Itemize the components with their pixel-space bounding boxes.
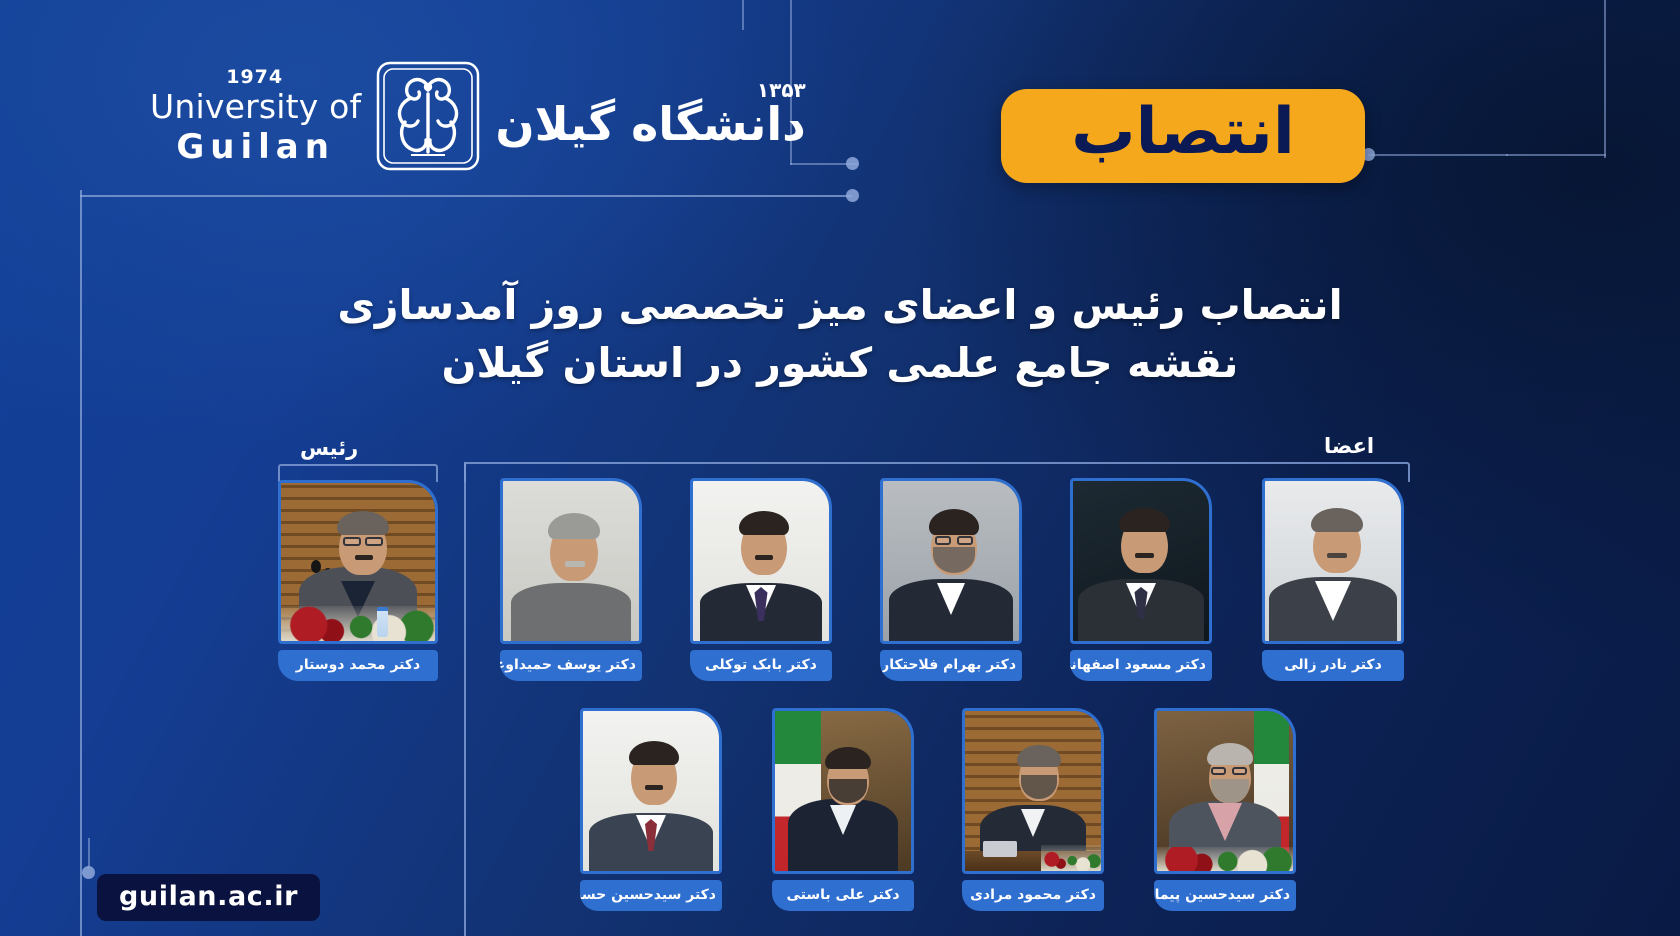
deco-line-right-horizontal: [1368, 154, 1508, 156]
chair-name-tag: دکتر محمد دوستار: [278, 650, 438, 681]
member-8-photo: [962, 708, 1104, 874]
person-card-member-5[interactable]: دکتر نادر زالی: [1262, 478, 1404, 681]
member-1-name-tag: دکتر یوسف حمیداوغلی: [500, 650, 642, 681]
page-title: انتصاب رئیس و اعضای میز تخصصی روز آمدساز…: [0, 276, 1680, 392]
member-3-name-tag: دکتر بهرام فلاحتکار: [880, 650, 1022, 681]
portrait-artwork: [775, 711, 911, 871]
portrait-artwork: [883, 481, 1019, 641]
logo-english-text: 1974 University of Guilan: [150, 68, 361, 164]
deco-line-right-horizontal-2: [1506, 154, 1606, 156]
members-section-stem: [464, 462, 466, 936]
eyeglasses-icon: [343, 537, 361, 546]
member-5-name-tag: دکتر نادر زالی: [1262, 650, 1404, 681]
portrait-artwork: [1157, 711, 1293, 871]
deco-line-left-horizontal: [80, 195, 852, 197]
guilan-emblem-icon: [375, 60, 481, 172]
portrait-artwork: [1073, 481, 1209, 641]
members-section-label: اعضا: [1324, 434, 1374, 458]
deco-line-right-vertical: [1604, 0, 1606, 158]
chair-photo: [278, 480, 438, 644]
logo-persian-text: ۱۳۵۳ دانشگاه گیلان: [495, 78, 805, 154]
logo-university-name-fa: دانشگاه گیلان: [495, 96, 805, 154]
member-6-name-tag: دکتر سیدحسین حسینی مقدم: [580, 880, 722, 911]
deco-dot-footer: [82, 866, 95, 879]
portrait-artwork: [281, 483, 435, 641]
member-4-name-tag: دکتر مسعود اصفهانی: [1070, 650, 1212, 681]
eyeglasses-icon-2: [365, 537, 383, 546]
member-2-name-tag: دکتر بابک توکلی: [690, 650, 832, 681]
person-card-member-2[interactable]: دکتر بابک توکلی: [690, 478, 832, 681]
person-card-member-4[interactable]: دکتر مسعود اصفهانی: [1070, 478, 1212, 681]
member-1-photo: [500, 478, 642, 644]
member-7-name-tag: دکتر علی باستی: [772, 880, 914, 911]
person-card-chair[interactable]: دکتر محمد دوستار: [278, 480, 438, 681]
logo-founding-year-en: 1974: [150, 68, 359, 87]
member-9-photo: [1154, 708, 1296, 874]
member-8-name-tag: دکتر محمود مرادی: [962, 880, 1104, 911]
appointment-badge-label: انتصاب: [1071, 100, 1295, 164]
university-logo: 1974 University of Guilan ۱۳۵۳ دانشگاه گ…: [150, 60, 806, 172]
website-badge[interactable]: guilan.ac.ir: [97, 874, 320, 921]
portrait-artwork: [1265, 481, 1401, 641]
chair-section-label: رئیس: [300, 436, 358, 460]
logo-university-word: University of: [150, 90, 361, 123]
poster-canvas: 1974 University of Guilan ۱۳۵۳ دانشگاه گ…: [0, 0, 1680, 936]
member-2-photo: [690, 478, 832, 644]
deco-dot-left-1: [846, 189, 859, 202]
member-9-name-tag: دکتر سیدحسین پیمان: [1154, 880, 1296, 911]
member-4-photo: [1070, 478, 1212, 644]
person-card-member-3[interactable]: دکتر بهرام فلاحتکار: [880, 478, 1022, 681]
logo-guilan-word: Guilan: [150, 130, 361, 164]
page-title-line-1: انتصاب رئیس و اعضای میز تخصصی روز آمدساز…: [0, 276, 1680, 334]
portrait-artwork: [583, 711, 719, 871]
person-card-member-6[interactable]: دکتر سیدحسین حسینی مقدم: [580, 708, 722, 911]
member-3-photo: [880, 478, 1022, 644]
member-5-photo: [1262, 478, 1404, 644]
deco-line-top-mid: [742, 0, 744, 30]
person-card-member-7[interactable]: دکتر علی باستی: [772, 708, 914, 911]
portrait-artwork: [965, 711, 1101, 871]
portrait-artwork: [693, 481, 829, 641]
person-card-member-1[interactable]: دکتر یوسف حمیداوغلی: [500, 478, 642, 681]
portrait-artwork: [503, 481, 639, 641]
person-card-member-8[interactable]: دکتر محمود مرادی: [962, 708, 1104, 911]
member-7-photo: [772, 708, 914, 874]
person-card-member-9[interactable]: دکتر سیدحسین پیمان: [1154, 708, 1296, 911]
member-6-photo: [580, 708, 722, 874]
appointment-badge: انتصاب: [1001, 89, 1365, 183]
deco-footer-stem: [88, 838, 90, 868]
page-title-line-2: نقشه جامع علمی کشور در استان گیلان: [0, 334, 1680, 392]
deco-dot-left-2: [846, 157, 859, 170]
